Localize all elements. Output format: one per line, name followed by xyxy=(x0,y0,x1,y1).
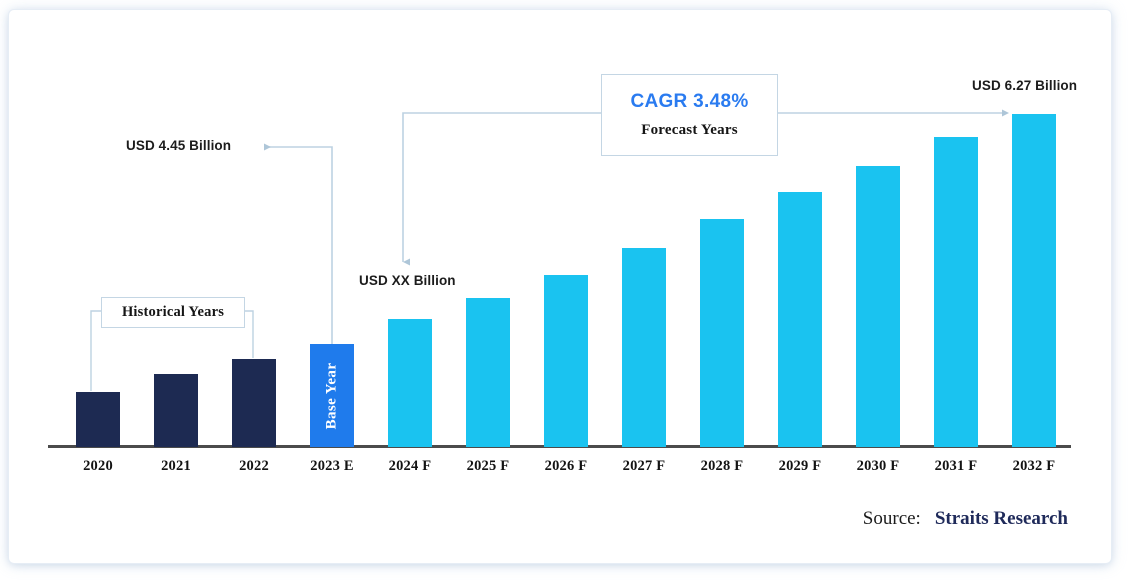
forecast-years-label: Forecast Years xyxy=(641,122,738,139)
bar-2031-f[interactable] xyxy=(934,137,978,447)
x-tick-2023-e: 2023 E xyxy=(293,458,371,475)
historical-years-box: Historical Years xyxy=(101,297,245,328)
bar-2028-f[interactable] xyxy=(700,219,744,447)
source-attribution: Source: Straits Research xyxy=(863,508,1068,530)
x-tick-2020: 2020 xyxy=(59,458,137,475)
bar-2024-f[interactable] xyxy=(388,319,432,447)
x-tick-2022: 2022 xyxy=(215,458,293,475)
base-year-vertical-label: Base Year xyxy=(324,362,341,429)
bar-2022[interactable] xyxy=(232,359,276,447)
x-tick-2027-f: 2027 F xyxy=(605,458,683,475)
usd-forecast-start-label: USD XX Billion xyxy=(359,273,456,288)
usd-base-year-label: USD 4.45 Billion xyxy=(126,138,231,153)
usd-forecast-end-label: USD 6.27 Billion xyxy=(972,78,1077,93)
source-name[interactable]: Straits Research xyxy=(935,508,1068,530)
bar-2026-f[interactable] xyxy=(544,275,588,447)
x-tick-2031-f: 2031 F xyxy=(917,458,995,475)
x-tick-2021: 2021 xyxy=(137,458,215,475)
base-year-callout-line xyxy=(264,147,332,344)
bar-2023-e[interactable]: Base Year xyxy=(310,344,354,447)
bar-2029-f[interactable] xyxy=(778,192,822,447)
historical-years-label: Historical Years xyxy=(122,304,224,321)
bar-chart-plot: 202020212022Base Year2023 E2024 F2025 F2… xyxy=(0,0,1128,582)
x-tick-2026-f: 2026 F xyxy=(527,458,605,475)
x-tick-2028-f: 2028 F xyxy=(683,458,761,475)
x-tick-2032-f: 2032 F xyxy=(995,458,1073,475)
x-tick-2025-f: 2025 F xyxy=(449,458,527,475)
x-tick-2029-f: 2029 F xyxy=(761,458,839,475)
x-tick-2030-f: 2030 F xyxy=(839,458,917,475)
forecast-start-callout-line xyxy=(403,113,601,262)
x-tick-2024-f: 2024 F xyxy=(371,458,449,475)
bar-2025-f[interactable] xyxy=(466,298,510,447)
cagr-value: CAGR 3.48% xyxy=(630,91,748,113)
source-label: Source: xyxy=(863,508,921,530)
bar-2030-f[interactable] xyxy=(856,166,900,447)
bar-2027-f[interactable] xyxy=(622,248,666,447)
chart-screenshot: 202020212022Base Year2023 E2024 F2025 F2… xyxy=(0,0,1128,582)
bar-2032-f[interactable] xyxy=(1012,114,1056,447)
bar-2020[interactable] xyxy=(76,392,120,447)
cagr-box: CAGR 3.48% Forecast Years xyxy=(601,74,778,156)
bar-2021[interactable] xyxy=(154,374,198,447)
